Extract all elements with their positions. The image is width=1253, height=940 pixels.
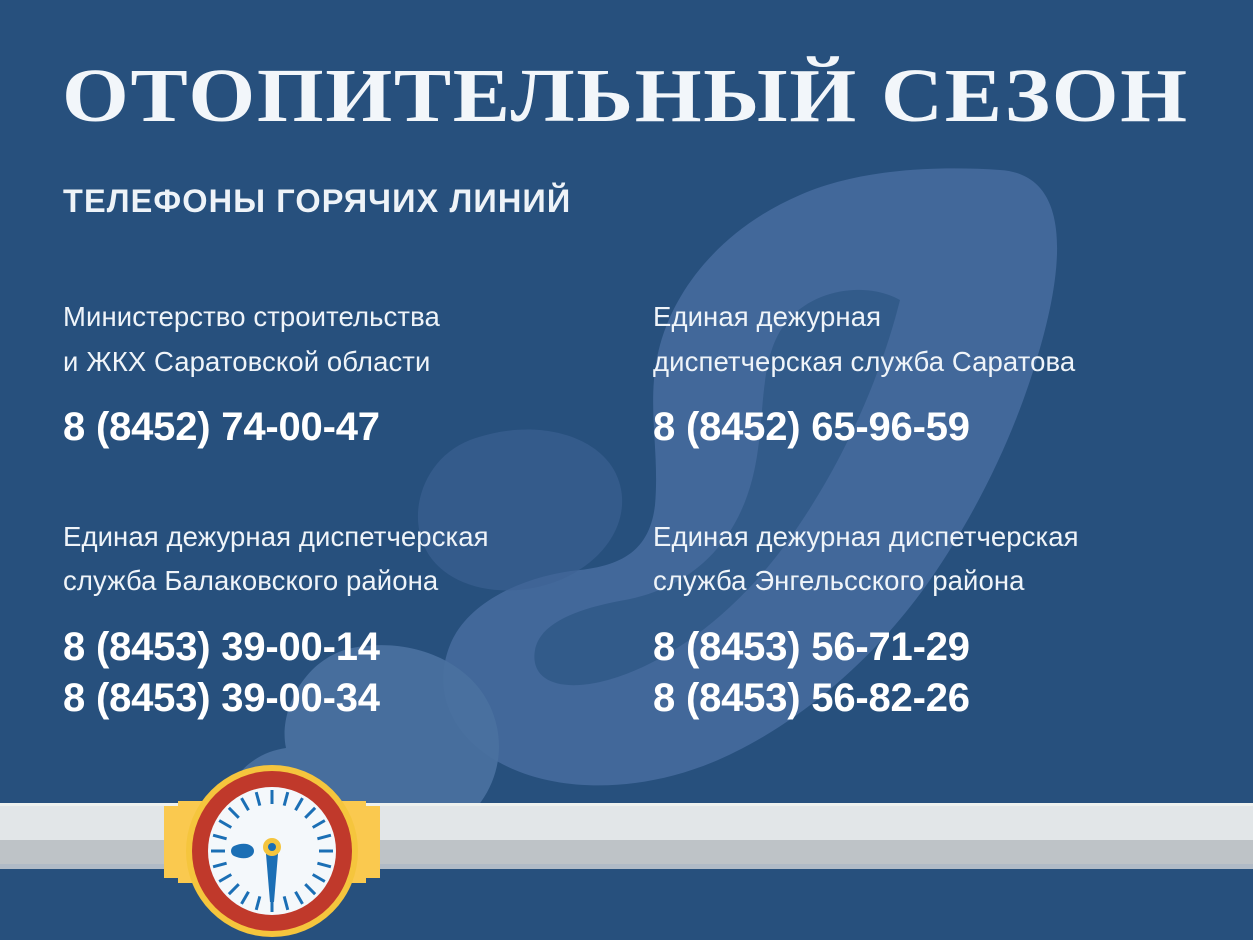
contacts-grid: Министерство строительства и ЖКХ Саратов… bbox=[0, 295, 1253, 724]
title-block: ОТОПИТЕЛЬНЫЙ СЕЗОН bbox=[62, 58, 1222, 134]
contact-card-edds-saratov: Единая дежурная диспетчерская служба Сар… bbox=[653, 295, 1253, 453]
phone-number[interactable]: 8 (8453) 56-71-29 bbox=[653, 622, 1253, 673]
page-title: ОТОПИТЕЛЬНЫЙ СЕЗОН bbox=[62, 58, 1253, 134]
contact-phone-list: 8 (8453) 39-00-14 8 (8453) 39-00-34 bbox=[63, 622, 653, 724]
meter-hub-center bbox=[268, 843, 276, 851]
meter-droplet-icon bbox=[231, 844, 254, 859]
phone-number[interactable]: 8 (8452) 74-00-47 bbox=[63, 402, 653, 453]
poster-canvas: ОТОПИТЕЛЬНЫЙ СЕЗОН ТЕЛЕФОНЫ ГОРЯЧИХ ЛИНИ… bbox=[0, 0, 1253, 940]
contact-card-edds-balakovo: Единая дежурная диспетчерская служба Бал… bbox=[63, 453, 653, 724]
contact-phone-list: 8 (8453) 56-71-29 8 (8453) 56-82-26 bbox=[653, 622, 1253, 724]
phone-number[interactable]: 8 (8453) 39-00-14 bbox=[63, 622, 653, 673]
water-meter-gauge-icon bbox=[148, 762, 396, 940]
contact-name: Единая дежурная диспетчерская служба Бал… bbox=[63, 515, 653, 604]
contact-name: Единая дежурная диспетчерская служба Сар… bbox=[653, 295, 1253, 384]
contact-card-edds-engels: Единая дежурная диспетчерская служба Энг… bbox=[653, 453, 1253, 724]
page-subtitle: ТЕЛЕФОНЫ ГОРЯЧИХ ЛИНИЙ bbox=[63, 183, 571, 220]
contact-phone-list: 8 (8452) 74-00-47 bbox=[63, 402, 653, 453]
contact-phone-list: 8 (8452) 65-96-59 bbox=[653, 402, 1253, 453]
contact-card-minstroy-saratov-oblast: Министерство строительства и ЖКХ Саратов… bbox=[63, 295, 653, 453]
phone-number[interactable]: 8 (8452) 65-96-59 bbox=[653, 402, 1253, 453]
phone-number[interactable]: 8 (8453) 56-82-26 bbox=[653, 673, 1253, 724]
phone-number[interactable]: 8 (8453) 39-00-34 bbox=[63, 673, 653, 724]
contact-name: Министерство строительства и ЖКХ Саратов… bbox=[63, 295, 653, 384]
contact-name: Единая дежурная диспетчерская служба Энг… bbox=[653, 515, 1253, 604]
